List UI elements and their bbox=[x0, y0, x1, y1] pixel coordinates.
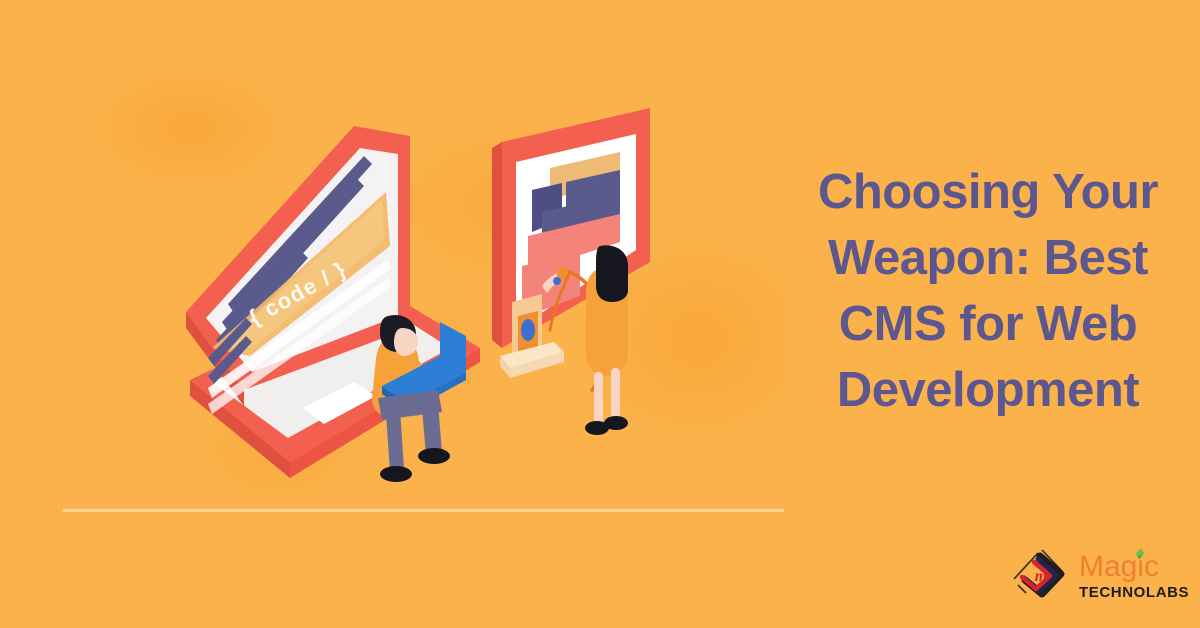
logo-sub-brand: TECHNOLABS bbox=[1079, 585, 1189, 600]
svg-text:m: m bbox=[1035, 568, 1047, 585]
logo-brand-text: Magic bbox=[1079, 550, 1159, 583]
divider-line bbox=[62, 509, 784, 512]
logo-brand-name: Magic bbox=[1079, 552, 1189, 584]
blog-banner: { code / } bbox=[0, 0, 1200, 628]
illustration: { code / } bbox=[150, 90, 790, 500]
page-title: Choosing Your Weapon: Best CMS for Web D… bbox=[800, 159, 1176, 423]
magic-diamond-icon: m bbox=[1012, 547, 1070, 603]
brand-logo[interactable]: m Magic TECHNOLABS bbox=[1012, 544, 1184, 606]
